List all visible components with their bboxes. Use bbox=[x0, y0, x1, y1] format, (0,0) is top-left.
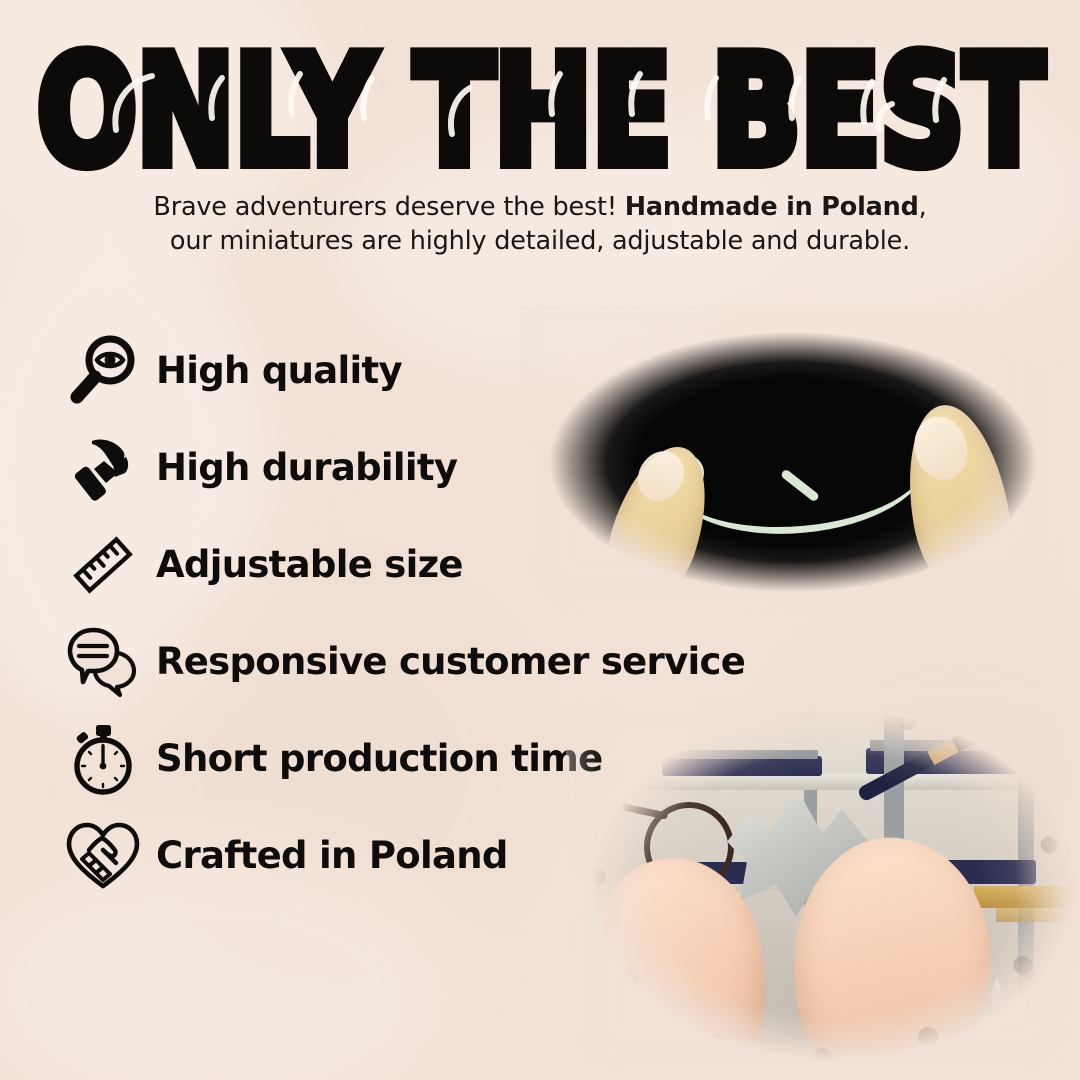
fingertip-left bbox=[593, 435, 724, 614]
fingertip-right bbox=[894, 397, 1022, 601]
hammer-icon bbox=[62, 427, 144, 509]
photo-bottom-mask bbox=[566, 690, 1080, 1080]
wooden-shelf bbox=[974, 886, 1080, 908]
speech-bubbles-icon bbox=[62, 621, 144, 703]
miniature-strand bbox=[667, 445, 933, 544]
feature-label: High durability bbox=[156, 446, 457, 489]
stopwatch-icon bbox=[62, 718, 144, 800]
headline: ONLY THE BEST bbox=[0, 34, 1080, 188]
fingernail bbox=[907, 410, 975, 486]
feature-label: Crafted in Poland bbox=[156, 834, 508, 877]
subtitle-line1: Brave adventurers deserve the best! Hand… bbox=[153, 192, 926, 222]
handshake-heart-icon bbox=[62, 815, 144, 897]
shelf-plank bbox=[566, 774, 1080, 790]
tray-contents bbox=[666, 750, 818, 759]
photo-top-mask bbox=[520, 306, 1066, 618]
feature-label: High quality bbox=[156, 349, 402, 392]
miniature-tray bbox=[662, 756, 822, 776]
photo-workshop-painting bbox=[566, 690, 1080, 1080]
subtitle: Brave adventurers deserve the best! Hand… bbox=[60, 190, 1020, 259]
fingernail bbox=[629, 443, 693, 510]
feature-label: Short production time bbox=[156, 737, 602, 780]
photo-flexible-miniature bbox=[520, 306, 1066, 618]
wooden-shelf bbox=[996, 908, 1080, 922]
subtitle-line2: our miniatures are highly detailed, adju… bbox=[170, 226, 910, 256]
ruler-icon bbox=[62, 524, 144, 606]
magnifier-eye-icon bbox=[62, 330, 144, 412]
feature-label: Adjustable size bbox=[156, 543, 463, 586]
promo-banner: ONLY THE BEST Brave adventurers deserve … bbox=[0, 0, 1080, 1080]
feature-label: Responsive customer service bbox=[156, 640, 745, 683]
